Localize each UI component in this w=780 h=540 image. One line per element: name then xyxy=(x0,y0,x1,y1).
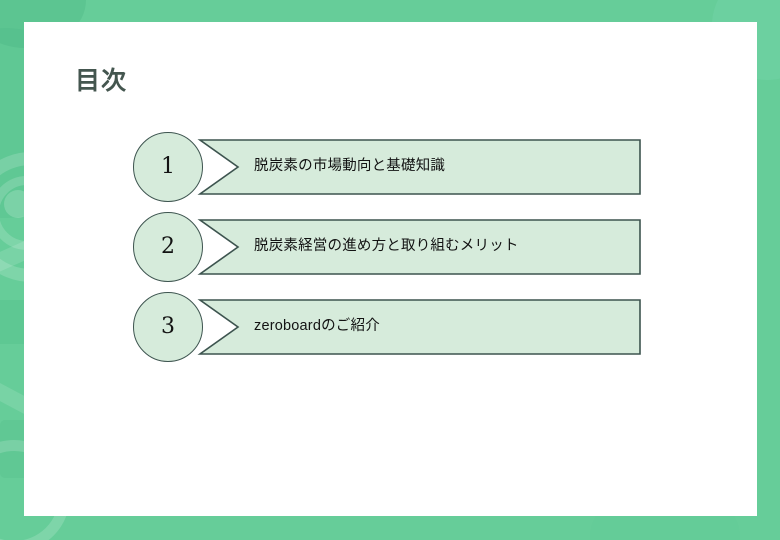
agenda-item-number: 1 xyxy=(161,156,175,178)
agenda-item-number: 2 xyxy=(161,236,175,258)
agenda-item-number: 3 xyxy=(161,316,175,338)
agenda-item-label: 脱炭素経営の進め方と取り組むメリット xyxy=(254,219,634,275)
agenda-item-number-circle: 3 xyxy=(133,292,203,362)
agenda-item[interactable]: 2 脱炭素経営の進め方と取り組むメリット xyxy=(133,212,641,282)
slide-root: 目次 1 脱炭素の市場動向と基礎知識 2 脱炭素経営の xyxy=(0,0,780,540)
agenda-item-label: 脱炭素の市場動向と基礎知識 xyxy=(254,139,634,195)
agenda-list: 1 脱炭素の市場動向と基礎知識 2 脱炭素経営の進め方と取り組むメリット xyxy=(24,22,757,516)
agenda-item-number-circle: 2 xyxy=(133,212,203,282)
agenda-item-label: zeroboardのご紹介 xyxy=(254,299,634,355)
content-panel: 目次 1 脱炭素の市場動向と基礎知識 2 脱炭素経営の xyxy=(24,22,757,516)
agenda-item[interactable]: 1 脱炭素の市場動向と基礎知識 xyxy=(133,132,641,202)
agenda-item[interactable]: 3 zeroboardのご紹介 xyxy=(133,292,641,362)
agenda-item-number-circle: 1 xyxy=(133,132,203,202)
